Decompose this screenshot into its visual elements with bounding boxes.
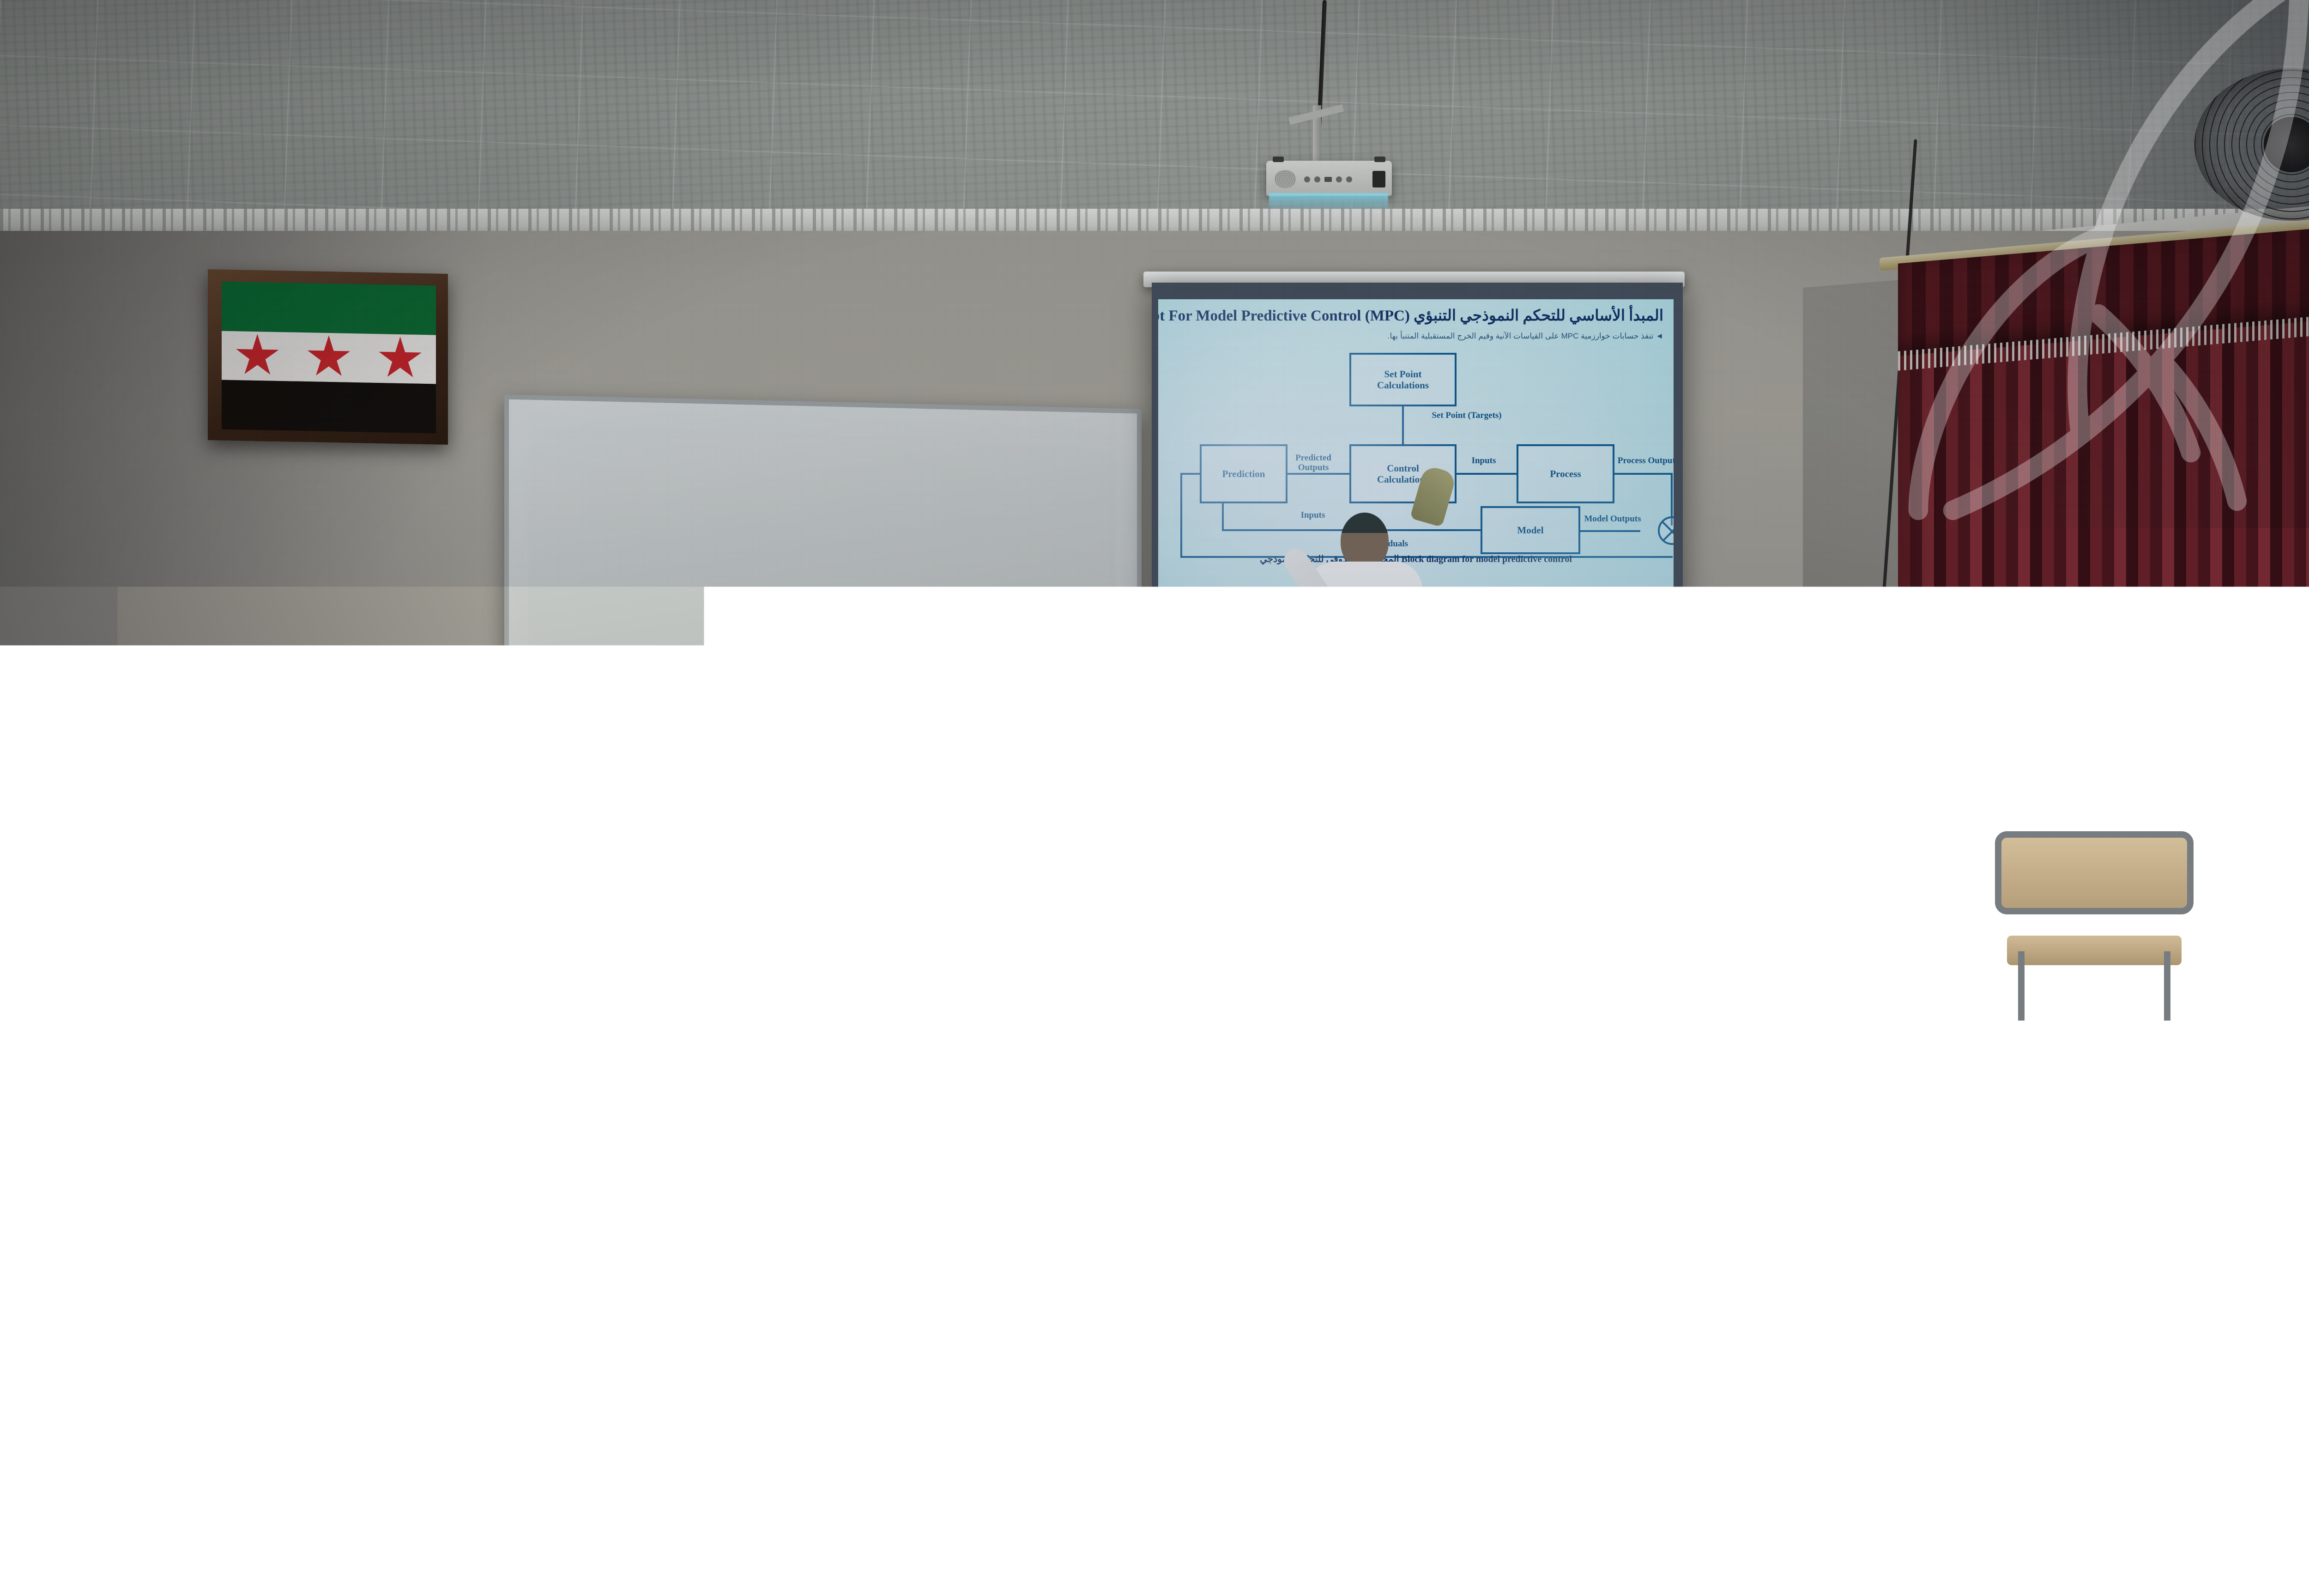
box-line: Model: [1517, 525, 1543, 536]
box-line: Process: [1550, 468, 1581, 479]
diagram-edge-label-predicted-outputs: Predicted Outputs: [1281, 453, 1346, 473]
diagram-box-model: Model: [1481, 506, 1580, 554]
box-line: Set Point: [1384, 369, 1421, 380]
projector-foot: [1374, 157, 1385, 162]
seminar-photo-card: المبدأ الأساسي للتحكم النموذجي التنبؤي (…: [0, 0, 2309, 1596]
diagram-edge-label-inputs: Inputs: [1458, 456, 1509, 466]
audience-head: [109, 697, 182, 771]
projector-port: [1324, 177, 1332, 182]
projector-port: [1336, 176, 1342, 182]
projector-panel: [1372, 171, 1385, 187]
diagram-box-process: Process: [1517, 444, 1614, 503]
diagram-edge: [1402, 406, 1404, 444]
projector-port: [1314, 176, 1320, 182]
desk-row-4-left: [0, 974, 443, 1079]
diagram-edge-label-set-point-targets: Set Point (Targets): [1407, 411, 1527, 421]
instagram-icon[interactable]: [447, 1493, 487, 1533]
diagram-edge: [1457, 473, 1517, 475]
chair-leg: [2018, 951, 2025, 1021]
email-address[interactable]: UNVALSHAM@GMAIL.COM: [1709, 1497, 2102, 1529]
phone-icon: [1334, 1483, 1378, 1543]
diagram-edge: [1580, 530, 1640, 532]
flag-band-white: [222, 331, 436, 384]
globe-icon: [860, 1483, 905, 1543]
whiteboard: [504, 394, 1142, 741]
projector-ports: [1304, 176, 1352, 182]
phone-number[interactable]: 05378300775: [1394, 1497, 1579, 1529]
audience-head: [1620, 748, 1705, 837]
chair-seat: [2007, 936, 2182, 965]
diagram-summing-junction: [1658, 516, 1674, 545]
email-group[interactable]: UNVALSHAM@GMAIL.COM: [1649, 1483, 2102, 1543]
flag-star: [307, 335, 351, 380]
caption-text: جانب مـن سـيمينار تسـجيل خطة بحث علمي لل…: [715, 1215, 1649, 1247]
flag-band-green: [222, 282, 436, 335]
telegram-icon[interactable]: [495, 1493, 535, 1533]
phone-group[interactable]: 05378300775: [1334, 1483, 1579, 1543]
syrian-independence-flag: [208, 269, 448, 445]
projector-port: [1304, 176, 1310, 182]
caption-bar: جانب مـن سـيمينار تسـجيل خطة بحث علمي لل…: [614, 1207, 1750, 1255]
twitter-icon[interactable]: [399, 1493, 439, 1533]
youtube-icon[interactable]: [543, 1493, 583, 1533]
presenter-head: [1341, 513, 1389, 569]
box-line: Calculations: [1377, 380, 1429, 391]
flag-band-black: [222, 380, 436, 434]
ceiling-projector: [1266, 161, 1392, 196]
wall-fan: [2194, 68, 2309, 221]
desk-foreground-center: [351, 1237, 1136, 1423]
audience-head: [1296, 707, 1366, 780]
smartphone: [780, 840, 831, 919]
flag-bands: [222, 282, 436, 434]
social-icons-row: [351, 1493, 583, 1533]
projector-foot: [1273, 157, 1284, 162]
chair-back: [1995, 831, 2194, 914]
social-group: @Unvalsham: [351, 1493, 791, 1533]
box-line: Control: [1387, 463, 1419, 474]
projector-lens-glow: [1269, 193, 1388, 209]
flag-star: [235, 333, 279, 379]
ceiling: [0, 0, 2309, 231]
diagram-box-prediction: Prediction: [1200, 444, 1287, 503]
envelope-icon: [1649, 1483, 1693, 1543]
diagram-edge: [1222, 503, 1224, 530]
diagram-edge: [1287, 473, 1349, 475]
slide-intro-bullet: ◄ تنفذ حسابات خوارزمية MPC على القياسات …: [1168, 332, 1663, 341]
audience-head: [2192, 762, 2287, 860]
diagram-edge: [1180, 473, 1201, 475]
audience-head: [277, 767, 361, 854]
diagram-edge-label-process-outputs: Process Outputs: [1614, 456, 1674, 466]
audience-member-patterned-shirt: [600, 704, 679, 838]
footer-bar: @Unvalsham SHAMUNIVERSITY.COM 0537830077…: [0, 1430, 2309, 1596]
projector-port: [1346, 176, 1352, 182]
social-handle[interactable]: @Unvalsham: [606, 1497, 791, 1529]
audience-member-striped-shirt: [877, 720, 1062, 914]
diagram-edge: [1614, 473, 1673, 475]
diagram-edge-label-model-outputs: Model Outputs: [1580, 514, 1645, 524]
chair-empty-right: [1995, 831, 2194, 965]
website-group[interactable]: SHAMUNIVERSITY.COM: [860, 1483, 1265, 1543]
diagram-box-set-point-calculations: Set Point Calculations: [1349, 353, 1457, 406]
box-line: Prediction: [1222, 468, 1265, 479]
diagram-edge: [1180, 473, 1182, 558]
slide-title: المبدأ الأساسي للتحكم النموذجي التنبؤي (…: [1168, 308, 1663, 324]
audience-torso: [877, 781, 1062, 920]
flag-star: [378, 336, 423, 381]
audience-head: [936, 720, 1003, 790]
facebook-icon[interactable]: [351, 1493, 391, 1533]
website-url[interactable]: SHAMUNIVERSITY.COM: [920, 1497, 1265, 1529]
chair-leg: [2164, 951, 2170, 1021]
projector-vent: [1275, 170, 1296, 188]
audience-head: [1193, 845, 1292, 949]
